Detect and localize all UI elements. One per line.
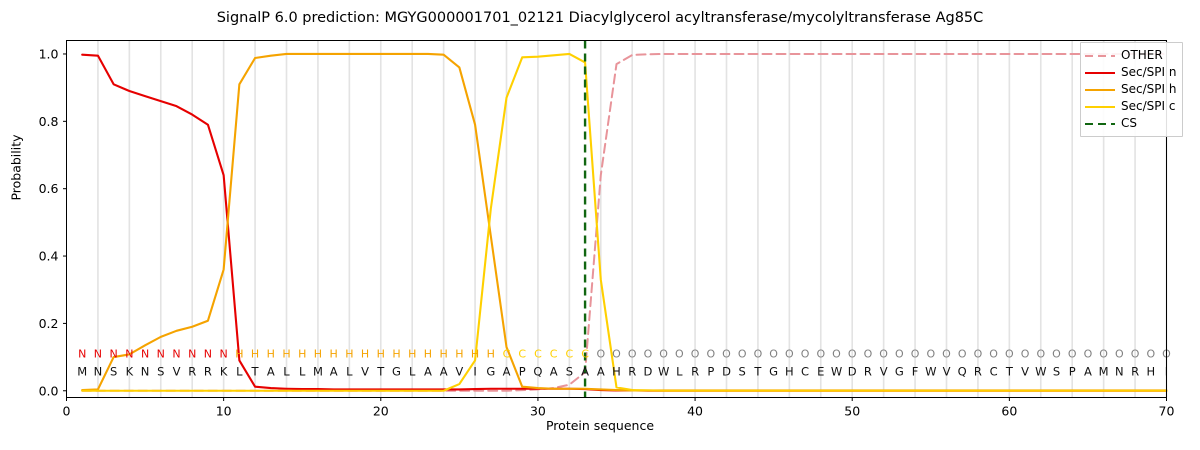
- region-label: O: [1146, 348, 1155, 361]
- sequence-residue: S: [110, 365, 117, 379]
- sequence-residue: L: [236, 365, 243, 379]
- region-label: O: [848, 348, 857, 361]
- region-label: H: [235, 348, 243, 361]
- legend-item-label: CS: [1121, 115, 1137, 132]
- sequence-residue: Q: [958, 365, 967, 379]
- region-label: H: [377, 348, 385, 361]
- legend-swatch-icon: [1085, 119, 1115, 129]
- sequence-residue: V: [880, 365, 888, 379]
- plot-area: 0.00.20.40.60.81.0 010203040506070 NMNNN…: [0, 0, 1200, 450]
- region-label: N: [220, 348, 228, 361]
- legend-swatch-icon: [1085, 102, 1115, 112]
- region-label: O: [911, 348, 920, 361]
- legend-item-sec-spi-c[interactable]: Sec/SPI c: [1085, 98, 1176, 115]
- region-label: O: [1036, 348, 1045, 361]
- region-label: N: [141, 348, 149, 361]
- sequence-residue: C: [801, 365, 809, 379]
- legend: OTHERSec/SPI nSec/SPI hSec/SPI cCS: [1080, 42, 1183, 137]
- legend-swatch-icon: [1085, 85, 1115, 95]
- y-tick-label: 0.6: [39, 181, 59, 196]
- region-label: C: [581, 348, 589, 361]
- region-label: N: [110, 348, 118, 361]
- region-label: H: [424, 348, 432, 361]
- y-tick-label: 0.2: [39, 316, 59, 331]
- series-line-other: [82, 54, 1166, 391]
- region-label: O: [1052, 348, 1061, 361]
- sequence-residue: A: [1084, 365, 1092, 379]
- x-tick-label: 30: [530, 404, 546, 419]
- region-label: O: [1131, 348, 1140, 361]
- sequence-residue: S: [157, 365, 164, 379]
- legend-item-cs[interactable]: CS: [1085, 115, 1176, 132]
- sequence-residue: H: [612, 365, 621, 379]
- region-label: O: [958, 348, 967, 361]
- sequence-residue: F: [912, 365, 919, 379]
- sequence-residue: L: [409, 365, 416, 379]
- legend-item-label: Sec/SPI n: [1121, 64, 1176, 81]
- region-label: N: [157, 348, 165, 361]
- sequence-residue: C: [990, 365, 998, 379]
- sequence-residue: H: [1146, 365, 1155, 379]
- region-label: H: [267, 348, 275, 361]
- legend-swatch-icon: [1085, 68, 1115, 78]
- region-label: O: [738, 348, 747, 361]
- x-tick-label: 20: [373, 404, 389, 419]
- series-line-sec-spi-n: [82, 55, 1166, 391]
- sequence-residue: M: [77, 365, 87, 379]
- y-tick-label: 0.8: [39, 114, 59, 129]
- region-label: O: [1068, 348, 1077, 361]
- region-label: H: [392, 348, 400, 361]
- legend-swatch-icon: [1085, 51, 1115, 61]
- sequence-residue: A: [424, 365, 432, 379]
- region-label: O: [659, 348, 668, 361]
- sequence-residue: S: [739, 365, 746, 379]
- region-label: O: [832, 348, 841, 361]
- region-label: O: [1099, 348, 1108, 361]
- region-label: O: [706, 348, 715, 361]
- region-label: O: [879, 348, 888, 361]
- region-label: O: [1021, 348, 1030, 361]
- sequence-residue: D: [848, 365, 857, 379]
- region-label: O: [596, 348, 605, 361]
- sequence-residue: T: [251, 365, 260, 379]
- sequence-residue: N: [94, 365, 103, 379]
- sequence-residue: R: [974, 365, 982, 379]
- sequence-residue: V: [173, 365, 181, 379]
- sequence-residue: W: [831, 365, 842, 379]
- region-label: C: [503, 348, 511, 361]
- x-tick-label: 0: [63, 404, 71, 419]
- sequence-residue: L: [283, 365, 290, 379]
- sequence-residue: P: [519, 365, 526, 379]
- sequence-residue: S: [566, 365, 573, 379]
- sequence-residue: A: [440, 365, 448, 379]
- region-label: C: [566, 348, 574, 361]
- sequence-residue: I: [473, 365, 476, 379]
- legend-item-label: Sec/SPI h: [1121, 81, 1176, 98]
- sequence-residue: T: [753, 365, 762, 379]
- region-label: O: [864, 348, 873, 361]
- region-label: O: [691, 348, 700, 361]
- region-label: O: [989, 348, 998, 361]
- legend-item-sec-spi-h[interactable]: Sec/SPI h: [1085, 81, 1176, 98]
- sequence-residue: A: [597, 365, 605, 379]
- sequence-residue: G: [486, 365, 495, 379]
- sequence-residue: A: [330, 365, 338, 379]
- region-label: N: [172, 348, 180, 361]
- region-label: H: [330, 348, 338, 361]
- region-label: O: [675, 348, 684, 361]
- sequence-residue: G: [895, 365, 904, 379]
- sequence-residue: R: [204, 365, 212, 379]
- region-label: O: [942, 348, 951, 361]
- signalp-prediction-figure: SignalP 6.0 prediction: MGYG000001701_02…: [0, 0, 1200, 450]
- sequence-residue: N: [1115, 365, 1124, 379]
- region-label: N: [78, 348, 86, 361]
- sequence-residue: L: [346, 365, 353, 379]
- region-label: H: [361, 348, 369, 361]
- region-label: H: [314, 348, 322, 361]
- legend-item-label: OTHER: [1121, 47, 1163, 64]
- region-label: C: [550, 348, 558, 361]
- region-label: O: [722, 348, 731, 361]
- region-label: H: [487, 348, 495, 361]
- sequence-residue: K: [126, 365, 134, 379]
- region-label: O: [926, 348, 935, 361]
- region-label: H: [345, 348, 353, 361]
- x-tick-label: 50: [844, 404, 860, 419]
- sequence-residue: G: [769, 365, 778, 379]
- x-tick-label: 40: [687, 404, 703, 419]
- x-tick-label: 60: [1001, 404, 1017, 419]
- sequence-residue: H: [785, 365, 794, 379]
- region-label: O: [754, 348, 763, 361]
- sequence-residue: R: [628, 365, 636, 379]
- region-label: O: [816, 348, 825, 361]
- sequence-residue: R: [864, 365, 872, 379]
- sequence-residue: R: [691, 365, 699, 379]
- sequence-residue: A: [503, 365, 511, 379]
- series-line-sec-spi-c: [82, 54, 1166, 391]
- sequence-residue: V: [1021, 365, 1029, 379]
- region-label: H: [298, 348, 306, 361]
- region-label: H: [455, 348, 463, 361]
- sequence-residue: W: [658, 365, 669, 379]
- x-tick-label: 10: [216, 404, 232, 419]
- sequence-residue: A: [267, 365, 275, 379]
- region-label: O: [769, 348, 778, 361]
- region-label: O: [785, 348, 794, 361]
- region-label: O: [974, 348, 983, 361]
- region-label: N: [125, 348, 133, 361]
- region-label: C: [534, 348, 542, 361]
- region-label: C: [518, 348, 526, 361]
- sequence-residue: P: [1069, 365, 1076, 379]
- sequence-residue: R: [188, 365, 196, 379]
- sequence-residue: V: [361, 365, 369, 379]
- sequence-residue: S: [1053, 365, 1060, 379]
- sequence-residue: V: [943, 365, 951, 379]
- region-label: O: [895, 348, 904, 361]
- region-label: H: [251, 348, 259, 361]
- region-label: O: [644, 348, 653, 361]
- y-axis-ticks: 0.00.20.40.60.81.0: [39, 46, 67, 398]
- sequence-residue: P: [707, 365, 714, 379]
- sequence-residue: R: [1131, 365, 1139, 379]
- region-label: O: [612, 348, 621, 361]
- region-label: N: [94, 348, 102, 361]
- region-label: O: [1115, 348, 1124, 361]
- region-label: O: [1005, 348, 1014, 361]
- sequence-residue: M: [1099, 365, 1109, 379]
- sequence-residue: Q: [533, 365, 542, 379]
- sequence-residue: K: [220, 365, 228, 379]
- region-label: N: [204, 348, 212, 361]
- sequence-residue: L: [299, 365, 306, 379]
- grid-lines: [98, 41, 1167, 398]
- x-tick-label: 70: [1159, 404, 1175, 419]
- legend-item-label: Sec/SPI c: [1121, 98, 1175, 115]
- sequence-residue: N: [141, 365, 150, 379]
- region-label: N: [188, 348, 196, 361]
- sequence-residue: L: [676, 365, 683, 379]
- sequence-residue: T: [376, 365, 385, 379]
- sequence-residue: V: [455, 365, 463, 379]
- sequence-residue: W: [925, 365, 936, 379]
- y-tick-label: 0.4: [39, 249, 59, 264]
- sequence-residue: M: [313, 365, 323, 379]
- region-label: O: [1084, 348, 1093, 361]
- region-label: H: [282, 348, 290, 361]
- series-line-sec-spi-h: [82, 54, 1166, 390]
- legend-item-other[interactable]: OTHER: [1085, 47, 1176, 64]
- sequence-residue: W: [1035, 365, 1046, 379]
- plot-frame: [67, 41, 1167, 398]
- region-label: H: [408, 348, 416, 361]
- sequence-residue: E: [817, 365, 824, 379]
- series-lines: [82, 54, 1166, 391]
- sequence-residue: D: [722, 365, 731, 379]
- sequence-residue: A: [550, 365, 558, 379]
- sequence-residue: T: [1005, 365, 1014, 379]
- sequence-residue: G: [392, 365, 401, 379]
- y-tick-label: 0.0: [39, 383, 59, 398]
- sequence-residue: A: [581, 365, 589, 379]
- region-label: H: [440, 348, 448, 361]
- legend-item-sec-spi-n[interactable]: Sec/SPI n: [1085, 64, 1176, 81]
- region-label: O: [801, 348, 810, 361]
- y-tick-label: 1.0: [39, 46, 59, 61]
- sequence-residue: D: [643, 365, 652, 379]
- region-label: H: [471, 348, 479, 361]
- region-label: O: [628, 348, 637, 361]
- x-axis-ticks: 010203040506070: [63, 398, 1175, 419]
